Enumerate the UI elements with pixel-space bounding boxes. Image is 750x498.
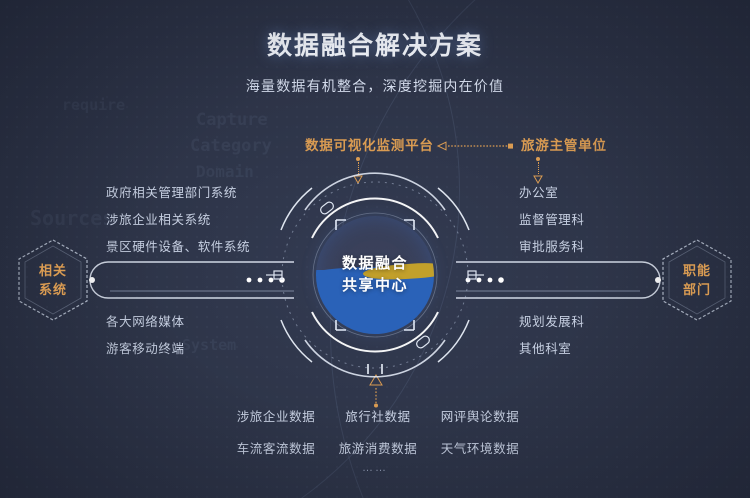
bottom-cell[interactable]: 网评舆论数据: [432, 406, 528, 425]
header-block: 数据融合解决方案 海量数据有机整合，深度挖掘内在价值: [0, 26, 750, 96]
hexagon-functional-departments[interactable]: 职能 部门: [660, 238, 734, 322]
hexagon-right-line2: 部门: [683, 280, 711, 299]
table-row: 车流客流数据 旅游消费数据 天气环境数据: [228, 438, 528, 457]
watermark-text: Category: [190, 136, 272, 156]
data-pipe-right: [456, 258, 666, 302]
right-item-upper[interactable]: 审批服务科: [519, 236, 585, 255]
core-sphere: 数据融合 共享中心: [316, 216, 434, 334]
bottom-cell[interactable]: 旅游消费数据: [330, 438, 426, 457]
hexagon-left-line1: 相关: [39, 261, 67, 280]
left-item-upper[interactable]: 政府相关管理部门系统: [106, 182, 237, 201]
bottom-cell[interactable]: 涉旅企业数据: [228, 406, 324, 425]
watermark-text: require: [62, 96, 125, 114]
watermark-text: Capture: [196, 110, 268, 130]
core-label-line2: 共享中心: [342, 275, 408, 297]
watermark-text: Domain: [196, 162, 254, 181]
label-tourism-authority[interactable]: 旅游主管单位: [521, 134, 607, 154]
page-title: 数据融合解决方案: [0, 26, 750, 62]
bottom-cell[interactable]: 旅行社数据: [330, 406, 426, 425]
watermark-text: Sources: [30, 206, 114, 230]
left-item-upper[interactable]: 景区硬件设备、软件系统: [106, 236, 250, 255]
right-item-lower[interactable]: 其他科室: [519, 338, 571, 357]
arrow-connector-icon: [436, 141, 516, 151]
page-subtitle: 海量数据有机整合，深度挖掘内在价值: [0, 76, 750, 96]
left-item-upper[interactable]: 涉旅企业相关系统: [106, 209, 211, 228]
hexagon-left-line2: 系统: [39, 280, 67, 299]
right-item-upper[interactable]: 办公室: [519, 182, 558, 201]
core-label-line1: 数据融合: [342, 253, 408, 275]
right-item-upper[interactable]: 监督管理科: [519, 209, 585, 228]
dropper-marker-authority: [532, 157, 544, 183]
bottom-data-grid: 涉旅企业数据 旅行社数据 网评舆论数据 车流客流数据 旅游消费数据 天气环境数据: [228, 406, 528, 470]
hexagon-right-line1: 职能: [683, 261, 711, 280]
bottom-cell[interactable]: 车流客流数据: [228, 438, 324, 457]
bottom-ellipsis: ……: [0, 462, 750, 474]
table-row: 涉旅企业数据 旅行社数据 网评舆论数据: [228, 406, 528, 425]
label-visualization-platform[interactable]: 数据可视化监测平台: [305, 134, 434, 154]
bottom-cell[interactable]: 天气环境数据: [432, 438, 528, 457]
center-hud: 数据融合 共享中心: [268, 168, 482, 382]
left-item-lower[interactable]: 各大网络媒体: [106, 311, 185, 330]
data-pipe-left: [84, 258, 294, 302]
watermark-text: System: [182, 336, 236, 354]
core-label: 数据融合 共享中心: [316, 216, 434, 334]
left-item-lower[interactable]: 游客移动终端: [106, 338, 185, 357]
hexagon-related-systems[interactable]: 相关 系统: [16, 238, 90, 322]
infographic-canvas: require Capture Category Domain Sources …: [0, 0, 750, 498]
right-item-lower[interactable]: 规划发展科: [519, 311, 585, 330]
